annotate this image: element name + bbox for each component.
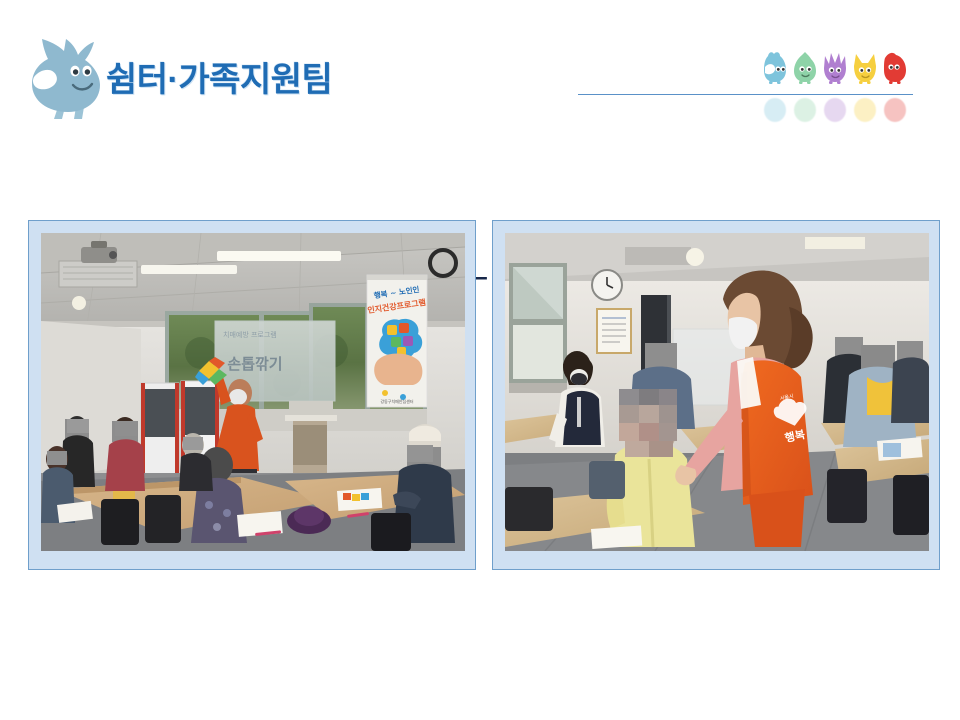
svg-text:치매예방 프로그램: 치매예방 프로그램 [223,330,277,339]
svg-text:손톱깎기: 손톱깎기 [227,355,282,373]
page-title: 쉼터·가족지원팀 [106,52,332,101]
character-row [762,48,912,84]
bird-character-purple [822,50,848,84]
blue-mascot-character-icon [18,33,110,121]
slide-header: 쉼터·가족지원팀 [0,0,960,120]
photo-classroom-lecture: 치매예방 프로그램 손톱깎기 행복 ~ 노인인 인지건강프로그램 [41,233,465,551]
slide-canvas: 쉼터·가족지원팀 [0,0,960,720]
photo-frame-left: 치매예방 프로그램 손톱깎기 행복 ~ 노인인 인지건강프로그램 [28,220,476,570]
bird-character-yellow [852,50,878,84]
bird-character-blue [762,50,788,84]
bird-character-red [882,50,908,84]
photo-frame-right: 행복 서울시 [492,220,940,570]
subtitle-bar: 찾아가는 치매예방교실 프로그램 진행 – 강동노인종합복지관 [0,124,960,176]
header-divider [578,94,913,95]
svg-text:강동구치매안심센터: 강동구치매안심센터 [380,398,413,404]
bird-character-green [792,50,818,84]
photo-one-on-one-assistance: 행복 서울시 [505,233,929,551]
slide-footer: I·SEOUL·U 너와 나의 서울 강동구치매안심센터 GANGDONG CE… [0,600,960,680]
